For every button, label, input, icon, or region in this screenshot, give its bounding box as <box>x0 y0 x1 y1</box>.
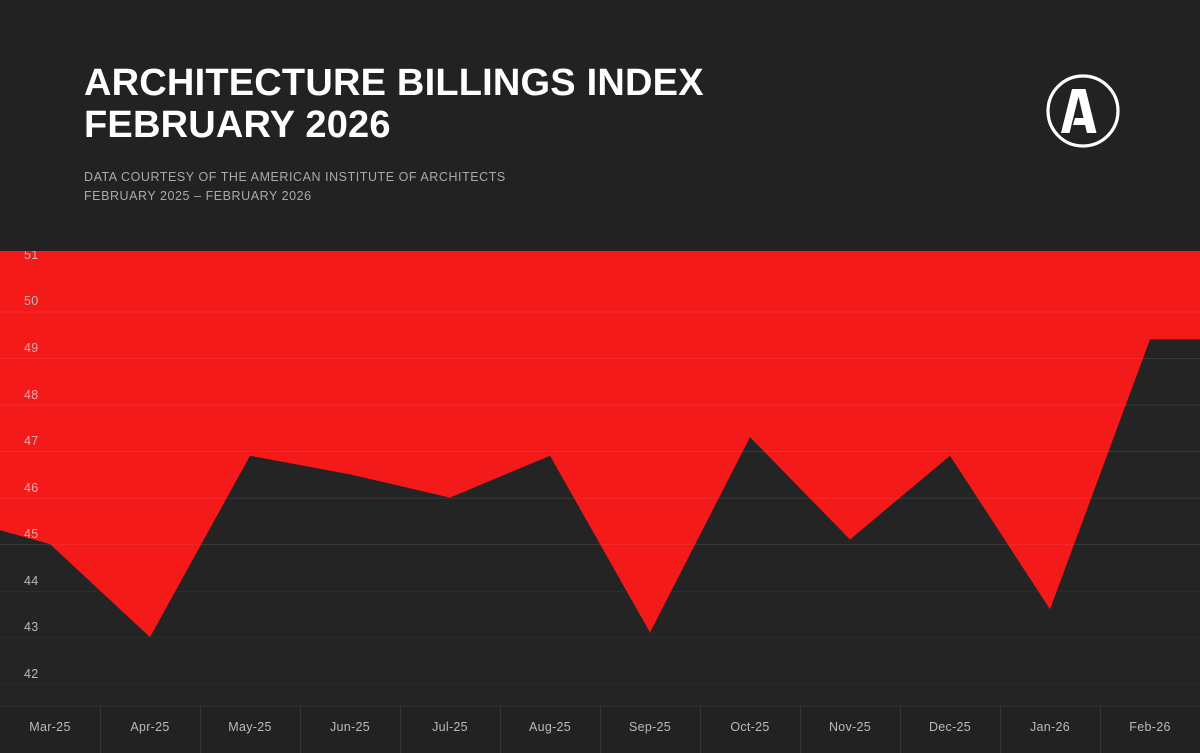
x-axis-label: Jan-26 <box>1000 720 1100 734</box>
x-axis-label: Jul-25 <box>400 720 500 734</box>
y-axis-label: 51 <box>24 251 39 265</box>
x-axis-label: Oct-25 <box>700 720 800 734</box>
plot-region: 51504948474645444342 <box>0 251 1200 706</box>
y-axis-label: 47 <box>24 434 39 451</box>
x-axis-label: Feb-26 <box>1100 720 1200 734</box>
aia-circle-a-icon <box>1044 72 1122 150</box>
page-title: ARCHITECTURE BILLINGS INDEX FEBRUARY 202… <box>84 62 704 146</box>
aia-logo <box>1044 72 1122 150</box>
page-title-line-1: ARCHITECTURE BILLINGS INDEX <box>84 62 704 104</box>
subtitle: DATA COURTESY OF THE AMERICAN INSTITUTE … <box>84 168 704 206</box>
x-axis-label: Aug-25 <box>500 720 600 734</box>
area-fill <box>0 251 1200 637</box>
x-axis: Mar-25Apr-25May-25Jun-25Jul-25Aug-25Sep-… <box>0 706 1200 753</box>
header: ARCHITECTURE BILLINGS INDEX FEBRUARY 202… <box>84 62 704 206</box>
gridline-over-fill <box>0 451 1200 452</box>
x-axis-label: Jun-25 <box>300 720 400 734</box>
y-axis-label: 44 <box>24 574 39 591</box>
chart-area: 51504948474645444342 Mar-25Apr-25May-25J… <box>0 251 1200 753</box>
series-area-abi <box>0 251 1200 706</box>
y-axis-label: 45 <box>24 527 39 544</box>
subtitle-line-2: FEBRUARY 2025 – FEBRUARY 2026 <box>84 187 704 206</box>
page-title-line-2: FEBRUARY 2026 <box>84 104 704 146</box>
x-axis-label: Apr-25 <box>100 720 200 734</box>
y-axis-label: 46 <box>24 481 39 498</box>
chart-canvas: ARCHITECTURE BILLINGS INDEX FEBRUARY 202… <box>0 0 1200 753</box>
gridline-over-fill <box>0 358 1200 359</box>
y-axis-label: 50 <box>24 294 39 311</box>
y-axis-label: 42 <box>24 667 39 684</box>
x-axis-label: Nov-25 <box>800 720 900 734</box>
x-axis-label: Mar-25 <box>0 720 100 734</box>
x-axis-label: Sep-25 <box>600 720 700 734</box>
y-axis-label: 43 <box>24 620 39 637</box>
gridline-over-fill <box>0 498 1200 499</box>
y-axis-label: 49 <box>24 341 39 358</box>
gridline-over-fill <box>0 544 1200 545</box>
y-axis-label: 48 <box>24 388 39 405</box>
x-axis-label: May-25 <box>200 720 300 734</box>
gridline-over-fill <box>0 405 1200 406</box>
subtitle-line-1: DATA COURTESY OF THE AMERICAN INSTITUTE … <box>84 168 704 187</box>
gridline-over-fill <box>0 311 1200 312</box>
x-axis-label: Dec-25 <box>900 720 1000 734</box>
